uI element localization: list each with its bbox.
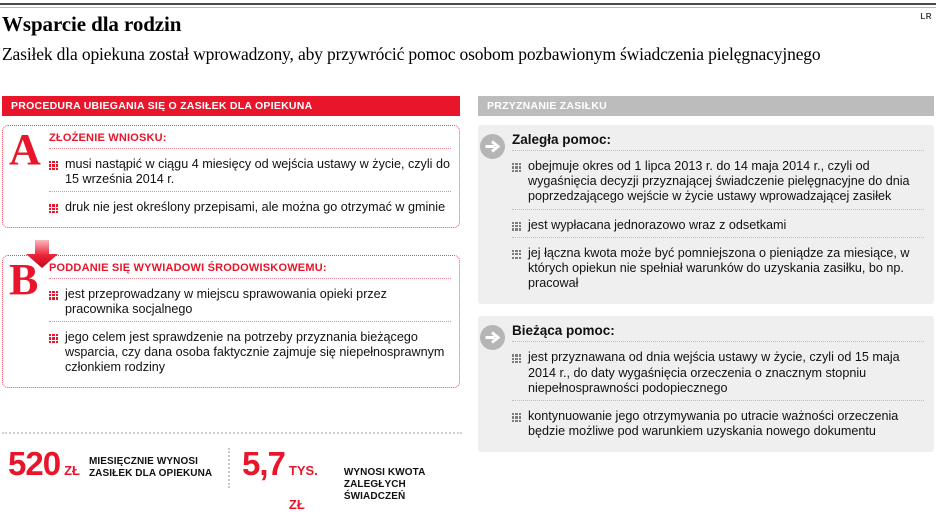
stats-row: 520 ZŁ MIESIĘCZNIE WYNOSI ZASIŁEK DLA OP… — [2, 447, 464, 491]
divider — [49, 148, 451, 149]
list-item: obejmuje okres od 1 lipca 2013 r. do 14 … — [512, 156, 924, 209]
stat-label-line2: ZASIŁEK DLA OPIEKUNA — [89, 468, 212, 479]
page-subtitle: Zasiłek dla opiekuna został wprowadzony,… — [2, 44, 821, 65]
list-item-text: jest wypłacana jednorazowo wraz z odsetk… — [528, 218, 786, 233]
stat-value: 520 — [8, 447, 60, 481]
stat-label-line2: ZALEGŁYCH ŚWIADCZEŃ — [344, 479, 406, 502]
left-column-header: PROCEDURA UBIEGANIA SIĘ O ZASIŁEK DLA OP… — [2, 96, 460, 116]
divider — [49, 278, 451, 279]
stat-label: WYNOSI KWOTA ZALEGŁYCH ŚWIADCZEŃ — [344, 467, 464, 503]
award-card-biezaca: Bieżąca pomoc: jest przyznawana od dnia … — [478, 316, 934, 452]
stat-unit: TYS. ZŁ — [289, 454, 335, 522]
grid-bullet-icon — [512, 163, 521, 172]
list-item: druk nie jest określony przepisami, ale … — [49, 197, 451, 219]
left-column: PROCEDURA UBIEGANIA SIĘ O ZASIŁEK DLA OP… — [2, 96, 464, 388]
circle-arrow-right-icon — [479, 133, 506, 160]
grid-bullet-icon — [512, 222, 521, 231]
list-item-text: obejmuje okres od 1 lipca 2013 r. do 14 … — [528, 159, 924, 205]
list-item-text: druk nie jest określony przepisami, ale … — [65, 200, 445, 215]
list-item-text: kontynuowanie jego otrzymywania po utrac… — [528, 409, 924, 439]
list-item: kontynuowanie jego otrzymywania po utrac… — [512, 406, 924, 443]
list-item: musi nastąpić w ciągu 4 miesięcy od wejś… — [49, 154, 451, 191]
stat-arrears-amount: 5,7 TYS. ZŁ WYNOSI KWOTA ZALEGŁYCH ŚWIAD… — [242, 447, 464, 522]
right-column: PRZYZNANIE ZASIŁKU Zaległa pomoc: obejmu… — [478, 96, 934, 452]
list-item: jest przyznawana od dnia wejścia ustawy … — [512, 347, 924, 400]
list-item-text: musi nastąpić w ciągu 4 miesięcy od wejś… — [65, 157, 451, 187]
block-b-heading: PODDANIE SIĘ WYWIADOWI ŚRODOWISKOWEMU: — [49, 262, 451, 278]
card-heading: Bieżąca pomoc: — [512, 323, 924, 341]
divider — [512, 150, 924, 151]
list-item: jej łączna kwota może być pomniejszona o… — [512, 243, 924, 296]
list-item-text: jego celem jest sprawdzenie na potrzeby … — [65, 330, 451, 376]
publisher-logo: LR — [920, 12, 932, 21]
stat-unit: ZŁ — [64, 454, 80, 488]
stats-divider — [2, 432, 462, 434]
stat-label-line1: MIESIĘCZNIE WYNOSI — [89, 456, 198, 467]
divider — [49, 321, 451, 322]
divider — [512, 209, 924, 210]
grid-bullet-icon — [512, 354, 521, 363]
stat-label-line1: WYNOSI KWOTA — [344, 467, 426, 478]
stat-label: MIESIĘCZNIE WYNOSI ZASIŁEK DLA OPIEKUNA — [89, 456, 212, 480]
circle-arrow-right-icon — [479, 324, 506, 351]
grid-bullet-icon — [512, 250, 521, 259]
infographic-page: LR Wsparcie dla rodzin Zasiłek dla opiek… — [0, 0, 936, 494]
grid-bullet-icon — [49, 334, 58, 343]
list-item: jego celem jest sprawdzenie na potrzeby … — [49, 327, 451, 380]
list-item-text: jej łączna kwota może być pomniejszona o… — [528, 246, 924, 292]
stat-monthly-benefit: 520 ZŁ MIESIĘCZNIE WYNOSI ZASIŁEK DLA OP… — [8, 447, 212, 488]
grid-bullet-icon — [49, 291, 58, 300]
divider — [49, 191, 451, 192]
divider — [512, 341, 924, 342]
page-title: Wsparcie dla rodzin — [2, 12, 181, 37]
list-item: jest wypłacana jednorazowo wraz z odsetk… — [512, 215, 924, 237]
block-letter-a: A — [9, 128, 41, 172]
grid-bullet-icon — [49, 204, 58, 213]
procedure-block-b: B PODDANIE SIĘ WYWIADOWI ŚRODOWISKOWEMU:… — [2, 255, 460, 388]
list-item-text: jest przeprowadzany w miejscu sprawowani… — [65, 287, 451, 317]
award-card-zalegla: Zaległa pomoc: obejmuje okres od 1 lipca… — [478, 125, 934, 304]
grid-bullet-icon — [512, 413, 521, 422]
block-a-heading: ZŁOŻENIE WNIOSKU: — [49, 132, 451, 148]
procedure-block-a: A ZŁOŻENIE WNIOSKU: musi nastąpić w ciąg… — [2, 125, 460, 228]
list-item-text: jest przyznawana od dnia wejścia ustawy … — [528, 350, 924, 396]
top-rule-thin — [0, 7, 936, 8]
block-letter-b: B — [9, 258, 38, 302]
divider — [512, 400, 924, 401]
stat-value: 5,7 — [242, 447, 285, 481]
card-heading: Zaległa pomoc: — [512, 132, 924, 150]
divider — [512, 237, 924, 238]
list-item: jest przeprowadzany w miejscu sprawowani… — [49, 284, 451, 321]
top-rule-thick — [0, 3, 936, 5]
right-column-header: PRZYZNANIE ZASIŁKU — [478, 96, 934, 116]
grid-bullet-icon — [49, 161, 58, 170]
